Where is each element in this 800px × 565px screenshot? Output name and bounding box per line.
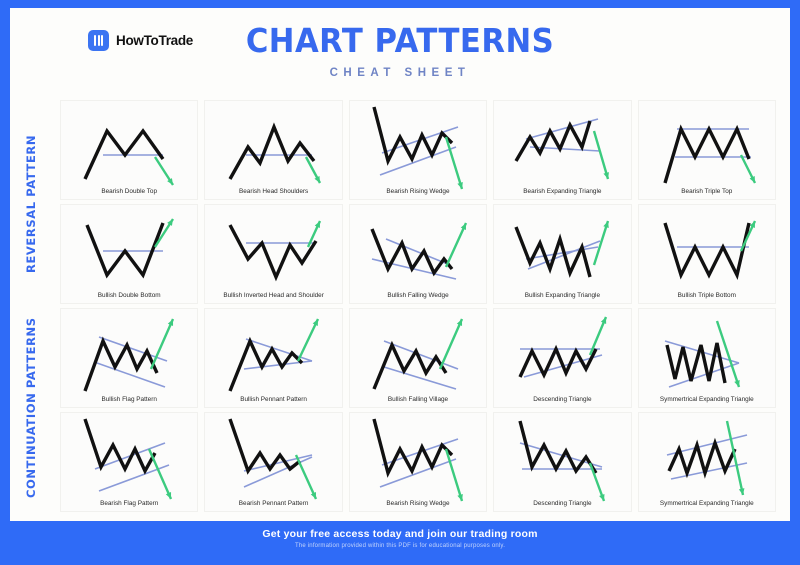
- pattern-card[interactable]: Bullish Double Bottom: [60, 204, 198, 304]
- pattern-card-label: Descending Triangle: [496, 500, 628, 508]
- price-line: [85, 341, 157, 391]
- breakout-arrow-shaft: [446, 449, 462, 501]
- pattern-card[interactable]: Bullish Flag Pattern: [60, 308, 198, 408]
- pattern-card[interactable]: Bullish Triple Bottom: [638, 204, 776, 304]
- pattern-card[interactable]: Bearish Double Top: [60, 100, 198, 200]
- pattern-diagram: [222, 207, 326, 297]
- breakout-arrow-shaft: [446, 223, 466, 267]
- title-block: CHART PATTERNS CHEAT SHEET: [10, 24, 790, 79]
- pattern-diagram: [366, 311, 470, 401]
- pattern-card[interactable]: Bullish Expanding Triangle: [493, 204, 631, 304]
- pattern-card-label: Bullish Flag Pattern: [63, 396, 195, 404]
- pattern-card[interactable]: Bearish Pennant Pattern: [204, 412, 342, 512]
- pattern-diagram: [77, 103, 181, 193]
- footer-disclaimer: The information provided within this PDF…: [10, 543, 790, 549]
- patterns-body: REVERSAL PATTERN CONTINUATION PATTERNS B…: [10, 100, 790, 521]
- breakout-arrow-shaft: [151, 319, 173, 369]
- pattern-card[interactable]: Bullish Falling Wedge: [349, 204, 487, 304]
- pattern-card-label: Bullish Triple Bottom: [641, 292, 773, 300]
- pattern-card-label: Bullish Expanding Triangle: [496, 292, 628, 300]
- price-line: [669, 443, 735, 473]
- pattern-card[interactable]: Descending Triangle: [493, 308, 631, 408]
- pattern-card-label: Bearish Double Top: [63, 188, 195, 196]
- pattern-card-label: Bullish Inverted Head and Shoulder: [207, 292, 339, 300]
- pattern-diagram: [510, 415, 614, 505]
- price-line: [516, 121, 590, 161]
- pattern-card-label: Bearish Rising Wedge: [352, 500, 484, 508]
- pattern-card-label: Descending Triangle: [496, 396, 628, 404]
- pattern-diagram: [222, 415, 326, 505]
- pattern-row: Bullish Double BottomBullish Inverted He…: [60, 204, 776, 304]
- pattern-card[interactable]: Bullish Pennant Pattern: [204, 308, 342, 408]
- pattern-card[interactable]: Bearish Rising Wedge: [349, 412, 487, 512]
- pattern-diagram: [510, 207, 614, 297]
- pattern-diagram: [510, 103, 614, 193]
- footer-cta: Get your free access today and join our …: [10, 528, 790, 540]
- page-subtitle: CHEAT SHEET: [10, 67, 790, 79]
- price-line: [665, 223, 749, 275]
- pattern-card-label: Bearish Flag Pattern: [63, 500, 195, 508]
- pattern-diagram: [222, 103, 326, 193]
- pattern-card[interactable]: Bearish Expanding Triangle: [493, 100, 631, 200]
- pattern-diagram: [77, 207, 181, 297]
- pattern-card-label: Symmertrical Expanding Triangle: [641, 500, 773, 508]
- group-label-continuation: CONTINUATION PATTERNS: [24, 308, 38, 508]
- pattern-card-label: Bearish Head Shoulders: [207, 188, 339, 196]
- price-line: [85, 419, 155, 471]
- pattern-row: Bearish Double TopBearish Head Shoulders…: [60, 100, 776, 200]
- cheat-sheet-page: HowToTrade CHART PATTERNS CHEAT SHEET RE…: [10, 8, 790, 557]
- pattern-card[interactable]: Bearish Triple Top: [638, 100, 776, 200]
- pattern-card-label: Bullish Pennant Pattern: [207, 396, 339, 404]
- page-footer: Get your free access today and join our …: [10, 521, 790, 557]
- pattern-diagram: [655, 207, 759, 297]
- pattern-card[interactable]: Bullish Inverted Head and Shoulder: [204, 204, 342, 304]
- pattern-diagram: [655, 415, 759, 505]
- pattern-card[interactable]: Bullish Falling Village: [349, 308, 487, 408]
- pattern-diagram: [510, 311, 614, 401]
- breakout-arrow-shaft: [440, 319, 462, 369]
- breakout-arrow-head: [604, 172, 609, 179]
- group-label-reversal: REVERSAL PATTERN: [24, 106, 38, 302]
- pattern-card-label: Bearish Rising Wedge: [352, 188, 484, 196]
- price-line: [230, 225, 316, 277]
- pattern-card[interactable]: Bearish Head Shoulders: [204, 100, 342, 200]
- page-frame: HowToTrade CHART PATTERNS CHEAT SHEET RE…: [0, 0, 800, 565]
- price-line: [372, 229, 452, 273]
- pattern-card-label: Symmertrical Expanding Triangle: [641, 396, 773, 404]
- price-line: [230, 419, 300, 471]
- page-header: HowToTrade CHART PATTERNS CHEAT SHEET: [10, 8, 790, 100]
- page-title: CHART PATTERNS: [37, 24, 762, 57]
- pattern-card[interactable]: Symmertrical Expanding Triangle: [638, 308, 776, 408]
- pattern-row: Bearish Flag PatternBearish Pennant Patt…: [60, 412, 776, 512]
- price-line: [516, 227, 590, 277]
- price-line: [87, 223, 163, 275]
- pattern-card[interactable]: Bearish Flag Pattern: [60, 412, 198, 512]
- pattern-diagram: [77, 311, 181, 401]
- breakout-arrow-head: [734, 380, 739, 387]
- price-line: [230, 127, 314, 179]
- pattern-rows: Bearish Double TopBearish Head Shoulders…: [60, 100, 776, 512]
- breakout-arrow-shaft: [594, 131, 608, 179]
- breakout-arrow-shaft: [446, 137, 462, 189]
- breakout-arrow-shaft: [149, 449, 171, 499]
- pattern-card[interactable]: Bearish Rising Wedge: [349, 100, 487, 200]
- pattern-card-label: Bullish Falling Wedge: [352, 292, 484, 300]
- pattern-diagram: [366, 415, 470, 505]
- pattern-card-label: Bearish Pennant Pattern: [207, 500, 339, 508]
- pattern-card[interactable]: Descending Triangle: [493, 412, 631, 512]
- pattern-diagram: [77, 415, 181, 505]
- pattern-card-label: Bullish Falling Village: [352, 396, 484, 404]
- pattern-card-label: Bearish Triple Top: [641, 188, 773, 196]
- pattern-diagram: [222, 311, 326, 401]
- pattern-card-label: Bullish Double Bottom: [63, 292, 195, 300]
- pattern-diagram: [366, 207, 470, 297]
- pattern-row: Bullish Flag PatternBullish Pennant Patt…: [60, 308, 776, 408]
- price-line: [665, 129, 749, 183]
- pattern-card[interactable]: Symmertrical Expanding Triangle: [638, 412, 776, 512]
- pattern-diagram: [366, 103, 470, 193]
- breakout-arrow-head: [604, 221, 609, 228]
- pattern-card-label: Bearish Expanding Triangle: [496, 188, 628, 196]
- breakout-arrow-shaft: [296, 455, 316, 499]
- breakout-arrow-shaft: [298, 319, 318, 361]
- pattern-diagram: [655, 103, 759, 193]
- price-line: [520, 349, 596, 377]
- pattern-diagram: [655, 311, 759, 401]
